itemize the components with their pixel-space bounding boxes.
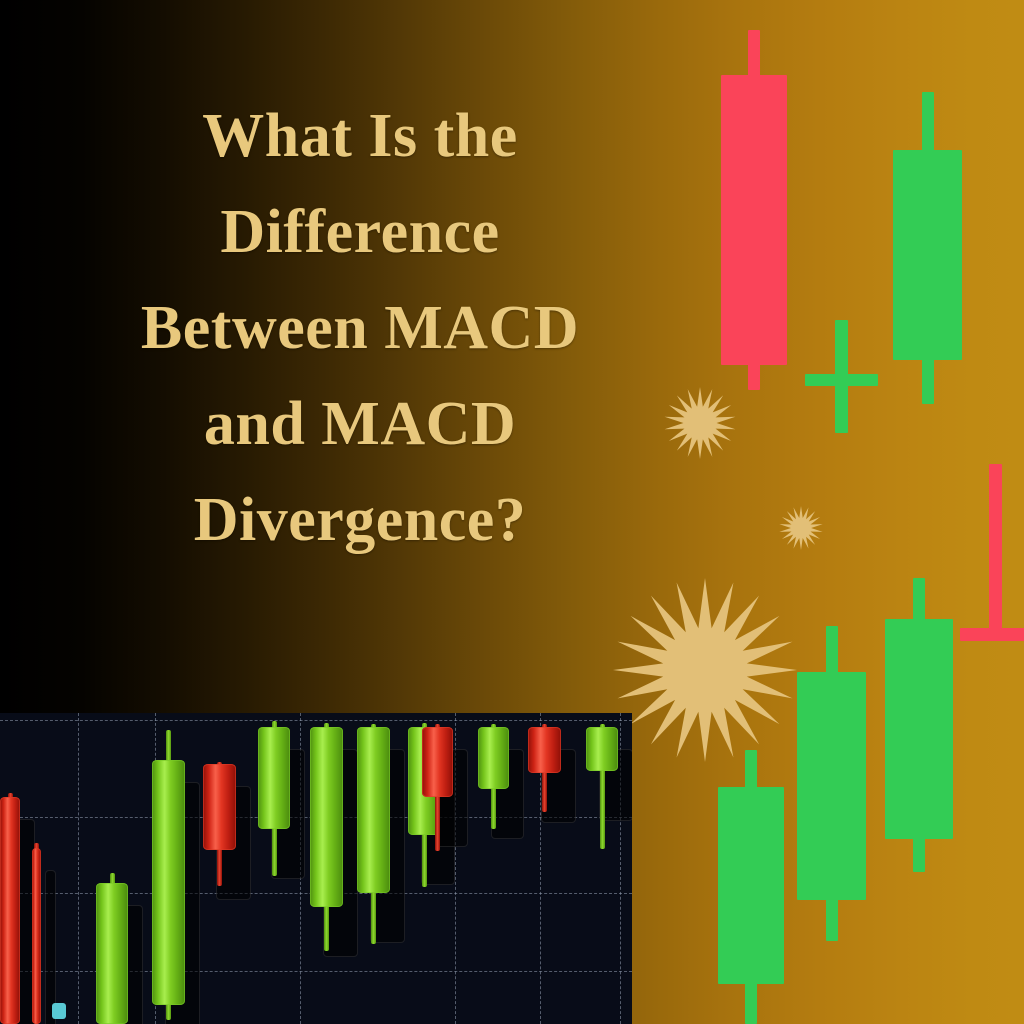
candle-body: [32, 848, 41, 1024]
candle-body: [478, 727, 509, 789]
candle-body: [422, 727, 453, 797]
title-line-1: What Is the: [60, 88, 660, 184]
candle-body: [960, 628, 1024, 641]
title-line-2: Difference: [60, 184, 660, 280]
candle-body: [893, 150, 962, 360]
gridline-vertical: [78, 713, 79, 1024]
starburst-large: [613, 578, 797, 762]
candle-body: [797, 672, 866, 900]
candle-body: [805, 374, 878, 386]
poster-canvas: What Is the Difference Between MACD and …: [0, 0, 1024, 1024]
chart-accent-dot: [52, 1003, 66, 1019]
title-line-5: Divergence?: [60, 472, 660, 568]
candlestick-chart-panel: [0, 713, 632, 1024]
candle-body: [152, 760, 185, 1005]
title-line-3: Between MACD: [60, 280, 660, 376]
candle-body: [357, 727, 390, 893]
candle-body: [258, 727, 290, 829]
starburst-small: [779, 506, 823, 550]
candle-body: [96, 883, 128, 1024]
candle-body: [203, 764, 236, 850]
candle-wick: [989, 464, 1002, 641]
candle-body: [586, 727, 618, 771]
candle-body: [310, 727, 343, 907]
starburst-medium: [664, 387, 736, 459]
candle-shadow: [45, 870, 56, 1024]
candle-body: [721, 75, 787, 365]
title-line-4: and MACD: [60, 376, 660, 472]
candle-body: [718, 787, 784, 984]
candle-body: [528, 727, 561, 773]
candle-body: [885, 619, 953, 839]
page-title: What Is the Difference Between MACD and …: [60, 88, 660, 568]
candle-body: [0, 797, 20, 1024]
